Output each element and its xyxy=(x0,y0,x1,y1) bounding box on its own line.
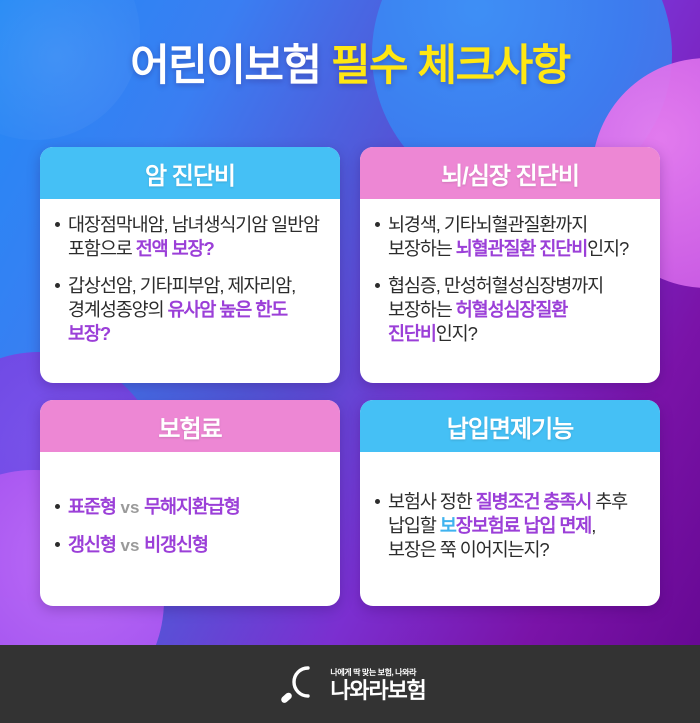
card-body-brain-heart-diagnosis: 뇌경색, 기타뇌혈관질환까지 보장하는 뇌혈관질환 진단비인지?협심증, 만성허… xyxy=(360,199,660,383)
text-segment-plain: 인지? xyxy=(587,238,628,259)
brand-tagline: 나에게 딱 맞는 보험, 나와라 xyxy=(330,667,425,678)
card-header-brain-heart-diagnosis: 뇌/심장 진단비 xyxy=(360,147,660,199)
text-segment-purple: 표준형 xyxy=(68,496,116,517)
bullet-similar-cancer: 갑상선암, 기타피부암, 제자리암, 경계성종양의 유사암 높은 한도 보장? xyxy=(54,274,324,346)
text-segment-purple: 갱신형 xyxy=(68,534,116,555)
text-segment-cyan: 보 xyxy=(440,515,456,536)
card-body-payment-waiver: 보험사 정한 질병조건 충족시 추후 납입할 보장보험료 납입 면제, 보장은 … xyxy=(360,452,660,606)
text-segment-purple: 비갱신형 xyxy=(144,534,208,555)
text-segment-plain: 보험사 정한 xyxy=(388,491,476,512)
bullet-general-cancer: 대장점막내암, 남녀생식기암 일반암 포함으로 전액 보장? xyxy=(54,213,324,261)
card-body-cancer-diagnosis: 대장점막내암, 남녀생식기암 일반암 포함으로 전액 보장?갑상선암, 기타피부… xyxy=(40,199,340,383)
brand-logo[interactable]: 나에게 딱 맞는 보험, 나와라 나와라보험 xyxy=(274,658,425,710)
bullet-standard-vs-refund: 표준형 vs 무해지환급형 xyxy=(54,495,324,519)
brand-name: 나와라보험 xyxy=(330,680,425,702)
magnifying-glass-icon xyxy=(274,658,326,710)
bullet-list-brain-heart-diagnosis: 뇌경색, 기타뇌혈관질환까지 보장하는 뇌혈관질환 진단비인지?협심증, 만성허… xyxy=(374,213,644,346)
bullet-renewal-vs-nonrenewal: 갱신형 vs 비갱신형 xyxy=(54,533,324,557)
brand-text: 나에게 딱 맞는 보험, 나와라 나와라보험 xyxy=(330,667,425,702)
text-segment-purple: 장보험료 납입 면제 xyxy=(456,515,591,536)
text-segment-purple: 전액 보장? xyxy=(136,238,214,259)
page-title: 어린이보험 필수 체크사항 xyxy=(0,42,700,90)
card-header-premium: 보험료 xyxy=(40,400,340,452)
card-header-cancer-diagnosis: 암 진단비 xyxy=(40,147,340,199)
text-segment-vs: vs xyxy=(116,536,144,555)
text-segment-vs: vs xyxy=(116,498,144,517)
bullet-list-payment-waiver: 보험사 정한 질병조건 충족시 추후 납입할 보장보험료 납입 면제, 보장은 … xyxy=(374,490,644,562)
bullet-ischemic-heart: 협심증, 만성허혈성심장병까지 보장하는 허혈성심장질환 진단비인지? xyxy=(374,274,644,346)
checklist-card-premium: 보험료표준형 vs 무해지환급형갱신형 vs 비갱신형 xyxy=(40,400,340,606)
bullet-list-premium: 표준형 vs 무해지환급형갱신형 vs 비갱신형 xyxy=(54,495,324,556)
page-title-accent: 필수 체크사항 xyxy=(331,42,570,90)
card-header-payment-waiver: 납입면제기능 xyxy=(360,400,660,452)
poster-canvas: 어린이보험 필수 체크사항 암 진단비대장점막내암, 남녀생식기암 일반암 포함… xyxy=(0,0,700,723)
checklist-card-brain-heart-diagnosis: 뇌/심장 진단비뇌경색, 기타뇌혈관질환까지 보장하는 뇌혈관질환 진단비인지?… xyxy=(360,147,660,383)
text-segment-purple: 질병조건 충족시 xyxy=(476,491,591,512)
bullet-waiver-condition: 보험사 정한 질병조건 충족시 추후 납입할 보장보험료 납입 면제, 보장은 … xyxy=(374,490,644,562)
page-title-primary: 어린이보험 xyxy=(130,42,320,90)
footer-bar: 나에게 딱 맞는 보험, 나와라 나와라보험 xyxy=(0,645,700,723)
bullet-list-cancer-diagnosis: 대장점막내암, 남녀생식기암 일반암 포함으로 전액 보장?갑상선암, 기타피부… xyxy=(54,213,324,346)
bullet-cerebrovascular: 뇌경색, 기타뇌혈관질환까지 보장하는 뇌혈관질환 진단비인지? xyxy=(374,213,644,261)
text-segment-plain: 인지? xyxy=(436,323,477,344)
card-body-premium: 표준형 vs 무해지환급형갱신형 vs 비갱신형 xyxy=(40,452,340,606)
checklist-card-payment-waiver: 납입면제기능보험사 정한 질병조건 충족시 추후 납입할 보장보험료 납입 면제… xyxy=(360,400,660,606)
checklist-card-grid: 암 진단비대장점막내암, 남녀생식기암 일반암 포함으로 전액 보장?갑상선암,… xyxy=(40,147,660,606)
text-segment-purple: 뇌혈관질환 진단비 xyxy=(456,238,587,259)
text-segment-purple: 무해지환급형 xyxy=(144,496,240,517)
checklist-card-cancer-diagnosis: 암 진단비대장점막내암, 남녀생식기암 일반암 포함으로 전액 보장?갑상선암,… xyxy=(40,147,340,383)
